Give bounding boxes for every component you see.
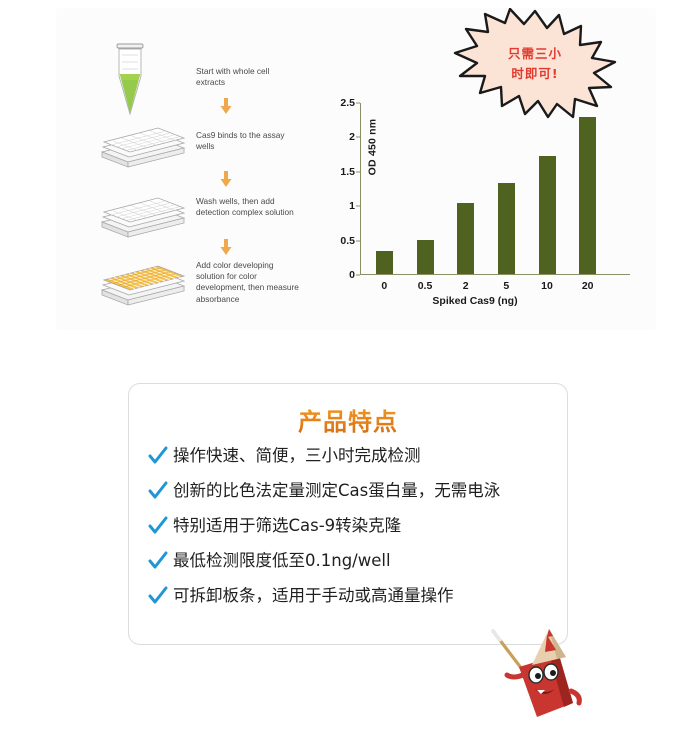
starburst-text: 只需三小 时即可!	[452, 8, 618, 120]
feature-item: 可拆卸板条，适用于手动或高通量操作	[147, 584, 553, 608]
od450-bar-chart: OD 450 nm 00.511.522.5 00.5251020 Spiked…	[330, 95, 620, 305]
down-arrow-icon	[218, 170, 234, 188]
workflow-step-2-label: Cas9 binds to the assay wells	[196, 130, 300, 152]
chart-plot-area: OD 450 nm 00.511.522.5 00.5251020	[360, 103, 612, 275]
feature-text: 操作快速、简便，三小时完成检测	[173, 444, 421, 468]
x-tick-label: 0	[381, 280, 387, 292]
features-list: 操作快速、简便，三小时完成检测创新的比色法定量测定Cas蛋白量，无需电泳特别适用…	[147, 444, 553, 619]
starburst-line-1: 只需三小	[508, 44, 562, 64]
y-tick-mark	[356, 275, 360, 276]
bar-column: 2	[445, 103, 486, 274]
bar-column: 5	[486, 103, 527, 274]
feature-item: 创新的比色法定量测定Cas蛋白量，无需电泳	[147, 479, 553, 503]
x-axis-line	[360, 274, 630, 275]
starburst-callout: 只需三小 时即可!	[452, 8, 618, 120]
workflow-step-1-label: Start with whole cell extracts	[196, 66, 300, 88]
top-illustration-panel: Start with whole cell extracts	[0, 0, 700, 336]
bar-column: 20	[567, 103, 608, 274]
white-microplate-icon	[100, 188, 186, 238]
feature-item: 操作快速、简便，三小时完成检测	[147, 444, 553, 468]
workflow-step-4-label: Add color developing solution for color …	[196, 260, 300, 305]
bar	[579, 117, 596, 274]
down-arrow-icon	[218, 97, 234, 115]
feature-text: 最低检测限度低至0.1ng/well	[173, 549, 391, 573]
x-tick-label: 0.5	[418, 280, 433, 292]
features-title: 产品特点	[129, 402, 567, 437]
white-microplate-icon	[100, 118, 186, 168]
assay-workflow-diagram: Start with whole cell extracts	[100, 42, 300, 302]
y-tick-label: 2.5	[340, 97, 355, 109]
yellow-microplate-icon	[100, 256, 186, 306]
chart-bars: 00.5251020	[360, 103, 612, 274]
y-tick-label: 0.5	[340, 235, 355, 247]
y-tick-label: 1.5	[340, 166, 355, 178]
product-features-panel: 产品特点 操作快速、简便，三小时完成检测创新的比色法定量测定Cas蛋白量，无需电…	[128, 383, 568, 645]
y-tick-label: 1	[349, 200, 355, 212]
y-tick-label: 0	[349, 269, 355, 281]
check-icon	[147, 585, 169, 607]
microcentrifuge-tube-icon	[100, 42, 186, 120]
x-axis-title: Spiked Cas9 (ng)	[330, 295, 620, 307]
bar	[539, 156, 556, 274]
check-icon	[147, 480, 169, 502]
bar-column: 0	[364, 103, 405, 274]
bar	[417, 240, 434, 274]
feature-text: 创新的比色法定量测定Cas蛋白量，无需电泳	[173, 479, 500, 503]
x-tick-label: 2	[463, 280, 469, 292]
feature-item: 最低检测限度低至0.1ng/well	[147, 549, 553, 573]
x-tick-label: 20	[582, 280, 594, 292]
feature-item: 特别适用于筛选Cas-9转染克隆	[147, 514, 553, 538]
bar	[498, 183, 515, 274]
bar	[457, 203, 474, 274]
red-pencil-mascot	[487, 625, 597, 725]
bar-column: 0.5	[405, 103, 446, 274]
check-icon	[147, 515, 169, 537]
y-tick-label: 2	[349, 131, 355, 143]
down-arrow-icon	[218, 238, 234, 256]
x-tick-label: 10	[541, 280, 553, 292]
feature-text: 可拆卸板条，适用于手动或高通量操作	[173, 584, 454, 608]
x-tick-label: 5	[503, 280, 509, 292]
check-icon	[147, 445, 169, 467]
feature-text: 特别适用于筛选Cas-9转染克隆	[173, 514, 401, 538]
starburst-line-2: 时即可!	[511, 64, 558, 84]
check-icon	[147, 550, 169, 572]
bar-column: 10	[527, 103, 568, 274]
bar	[376, 251, 393, 274]
workflow-step-3-label: Wash wells, then add detection complex s…	[196, 196, 300, 218]
